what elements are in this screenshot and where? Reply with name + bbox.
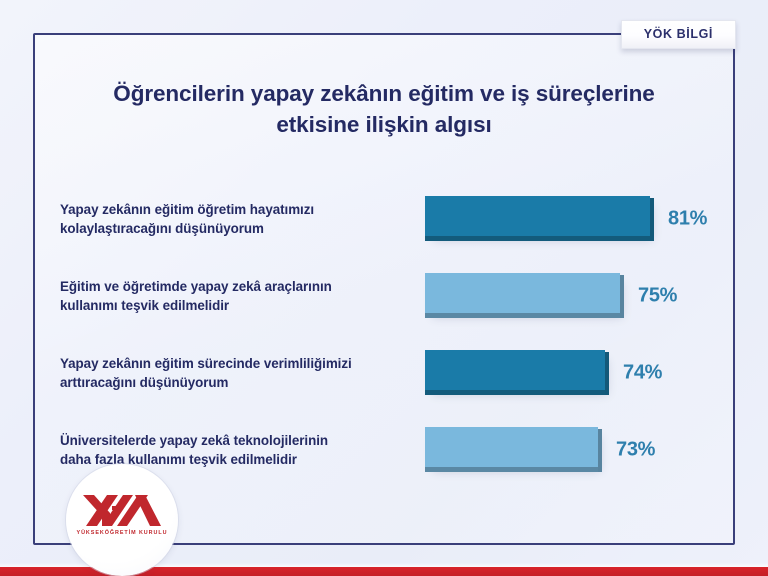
- bar-side: [605, 352, 609, 395]
- bar-side: [650, 198, 654, 241]
- yok-logo-icon: [83, 495, 161, 529]
- chart-row: Eğitim ve öğretimde yapay zekâ araçların…: [33, 257, 735, 334]
- chart-row: Yapay zekânın eğitim sürecinde verimlili…: [33, 334, 735, 411]
- page-title-line-2: etkisine ilişkin algısı: [33, 109, 735, 140]
- bar-face: [425, 196, 650, 236]
- bar-label-line-1: Yapay zekânın eğitim sürecinde verimlili…: [60, 353, 410, 372]
- page-title: Öğrencilerin yapay zekânın eğitim ve iş …: [33, 78, 735, 140]
- bar-label: Üniversitelerde yapay zekâ teknolojileri…: [60, 430, 410, 468]
- bar-value: 81%: [668, 207, 707, 230]
- bar-label-line-2: kolaylaştıracağını düşünüyorum: [60, 219, 410, 238]
- bar-track: 75%: [425, 273, 655, 319]
- bar-label-line-2: kullanımı teşvik edilmelidir: [60, 296, 410, 315]
- bar-chart: Yapay zekânın eğitim öğretim hayatımızı …: [33, 180, 735, 488]
- bar-label-line-1: Yapay zekânın eğitim öğretim hayatımızı: [60, 199, 410, 218]
- yok-logo-caption: YÜKSEKÖĞRETİM KURULU: [66, 530, 178, 536]
- bar-side: [598, 429, 602, 472]
- bar: [425, 273, 620, 313]
- bar-value: 73%: [616, 438, 655, 461]
- bar-track: 74%: [425, 350, 655, 396]
- chart-row: Yapay zekânın eğitim öğretim hayatımızı …: [33, 180, 735, 257]
- bar-label: Yapay zekânın eğitim sürecinde verimlili…: [60, 353, 410, 391]
- bar: [425, 427, 598, 467]
- yok-bilgi-badge-label: YÖK BİLGİ: [644, 28, 713, 41]
- bar-base: [425, 467, 598, 472]
- bar-face: [425, 273, 620, 313]
- bar-base: [425, 313, 620, 318]
- bar-label-line-1: Eğitim ve öğretimde yapay zekâ araçların…: [60, 276, 410, 295]
- bar: [425, 350, 605, 390]
- bar-value: 75%: [638, 284, 677, 307]
- yok-bilgi-badge: YÖK BİLGİ: [621, 20, 736, 49]
- bar-label-line-2: arttıracağını düşünüyorum: [60, 373, 410, 392]
- bar-label-line-1: Üniversitelerde yapay zekâ teknolojileri…: [60, 430, 410, 449]
- bar-base: [425, 236, 650, 241]
- bar: [425, 196, 650, 236]
- yok-logo: YÜKSEKÖĞRETİM KURULU: [66, 464, 178, 576]
- bar-label: Yapay zekânın eğitim öğretim hayatımızı …: [60, 199, 410, 237]
- bar-track: 73%: [425, 427, 655, 473]
- infographic-canvas: YÖK BİLGİ Öğrencilerin yapay zekânın eği…: [0, 0, 768, 576]
- bar-side: [620, 275, 624, 318]
- bar-face: [425, 427, 598, 467]
- bar-label: Eğitim ve öğretimde yapay zekâ araçların…: [60, 276, 410, 314]
- bar-face: [425, 350, 605, 390]
- bar-track: 81%: [425, 196, 655, 242]
- page-title-line-1: Öğrencilerin yapay zekânın eğitim ve iş …: [33, 78, 735, 109]
- bar-base: [425, 390, 605, 395]
- bar-value: 74%: [623, 361, 662, 384]
